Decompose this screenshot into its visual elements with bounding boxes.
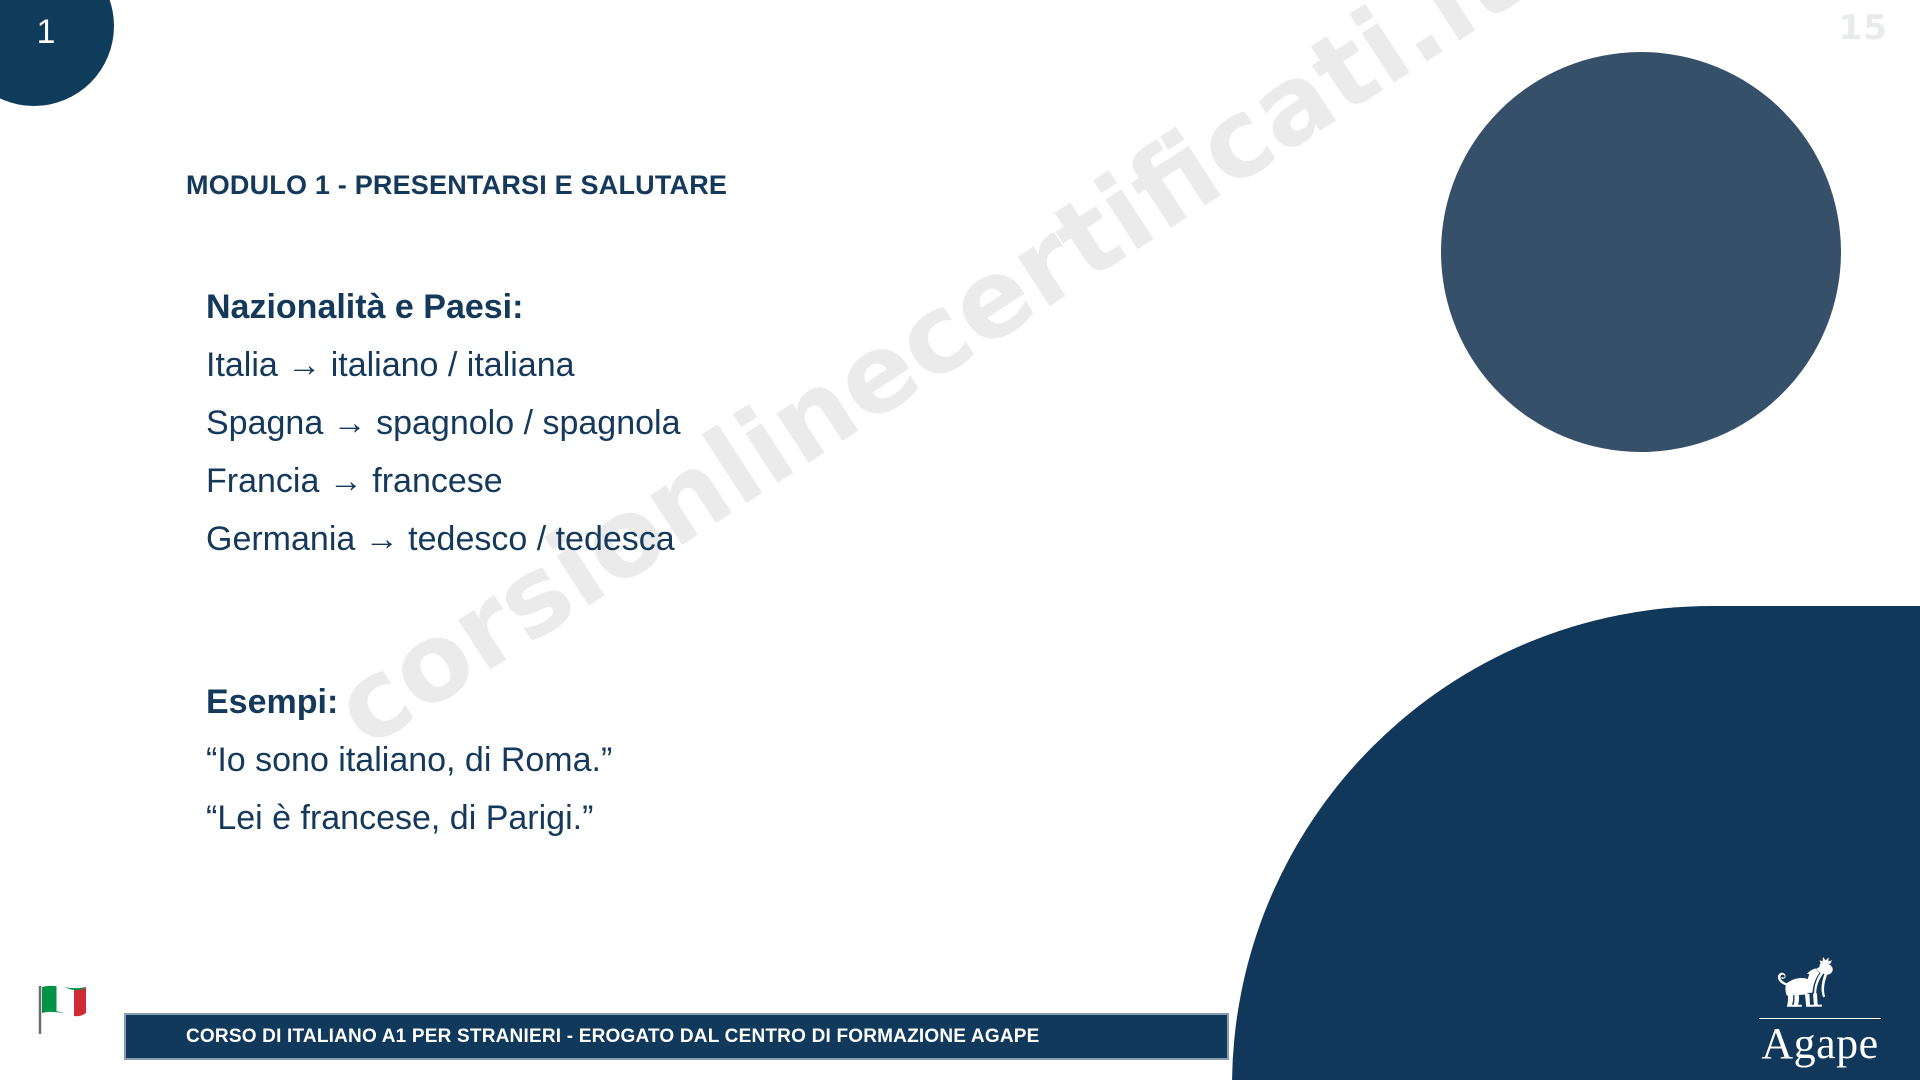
module-title: MODULO 1 - PRESENTARSI E SALUTARE — [186, 170, 727, 201]
section-heading-esempi: Esempi: — [206, 673, 680, 731]
decorative-circle-top-right — [1441, 52, 1841, 452]
content-spacer — [206, 568, 680, 673]
slide-badge-number: 1 — [22, 12, 70, 52]
slide-body: Nazionalità e Paesi: Italia → italiano /… — [206, 278, 680, 847]
nationality-line-italia: Italia → italiano / italiana — [206, 336, 680, 394]
agape-logo: Agape — [1735, 952, 1905, 1072]
lion-crest-icon — [1735, 952, 1905, 1016]
nationality-line-germania: Germania → tedesco / tedesca — [206, 510, 680, 568]
example-line-1: “Io sono italiano, di Roma.” — [206, 731, 680, 789]
nationality-line-francia: Francia → francese — [206, 452, 680, 510]
page-number: 15 — [1839, 8, 1888, 48]
logo-wordmark: Agape — [1735, 1019, 1905, 1069]
slide-canvas: corsionlinecertificati.it 1 15 MODULO 1 … — [0, 0, 1920, 1080]
example-line-2: “Lei è francese, di Parigi.” — [206, 789, 680, 847]
footer-text: CORSO DI ITALIANO A1 PER STRANIERI - ERO… — [186, 1026, 1040, 1048]
italian-flag-icon — [36, 982, 102, 1036]
section-heading-nazionalita: Nazionalità e Paesi: — [206, 278, 680, 336]
nationality-line-spagna: Spagna → spagnolo / spagnola — [206, 394, 680, 452]
